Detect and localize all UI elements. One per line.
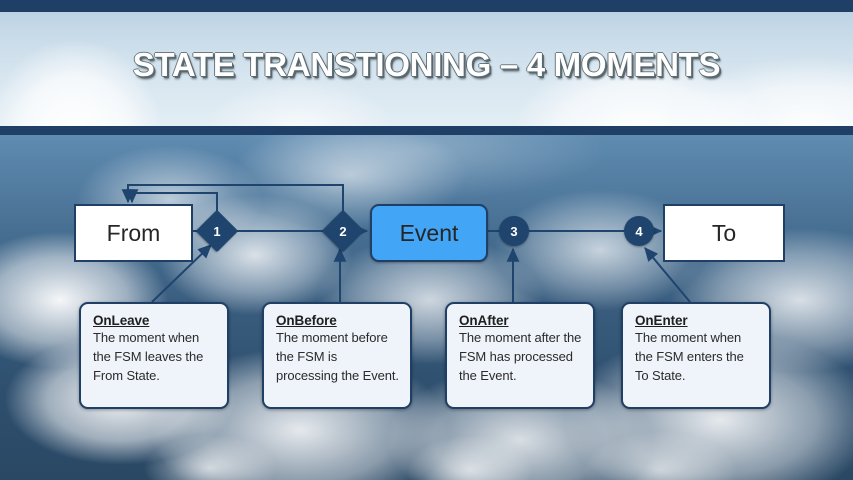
callout-onbefore-text: The moment before the FSM is processing …: [276, 330, 399, 383]
callout-onleave[interactable]: OnLeave The moment when the FSM leaves t…: [79, 302, 229, 409]
callout-onafter-title: OnAfter: [459, 313, 583, 328]
marker-4-number: 4: [635, 224, 642, 239]
marker-2-number: 2: [339, 224, 346, 239]
callout-onbefore-title: OnBefore: [276, 313, 400, 328]
callout-onafter[interactable]: OnAfter The moment after the FSM has pro…: [445, 302, 595, 409]
callout-onenter-text: The moment when the FSM enters the To St…: [635, 330, 744, 383]
transition-marker-4[interactable]: 4: [624, 216, 654, 246]
marker-1-number: 1: [213, 224, 220, 239]
transition-marker-2[interactable]: 2: [328, 216, 358, 246]
callout-onbefore[interactable]: OnBefore The moment before the FSM is pr…: [262, 302, 412, 409]
event-node[interactable]: Event: [370, 204, 488, 262]
transition-marker-3[interactable]: 3: [499, 216, 529, 246]
slide: STATE TRANSTIONING – 4 MOMENTS: [0, 0, 853, 480]
callout-onenter-title: OnEnter: [635, 313, 759, 328]
transition-marker-1[interactable]: 1: [202, 216, 232, 246]
callout-onenter[interactable]: OnEnter The moment when the FSM enters t…: [621, 302, 771, 409]
state-node-to[interactable]: To: [663, 204, 785, 262]
marker-3-number: 3: [510, 224, 517, 239]
callout-onleave-text: The moment when the FSM leaves the From …: [93, 330, 203, 383]
state-node-from[interactable]: From: [74, 204, 193, 262]
callout-onafter-text: The moment after the FSM has processed t…: [459, 330, 581, 383]
callout-onleave-title: OnLeave: [93, 313, 217, 328]
